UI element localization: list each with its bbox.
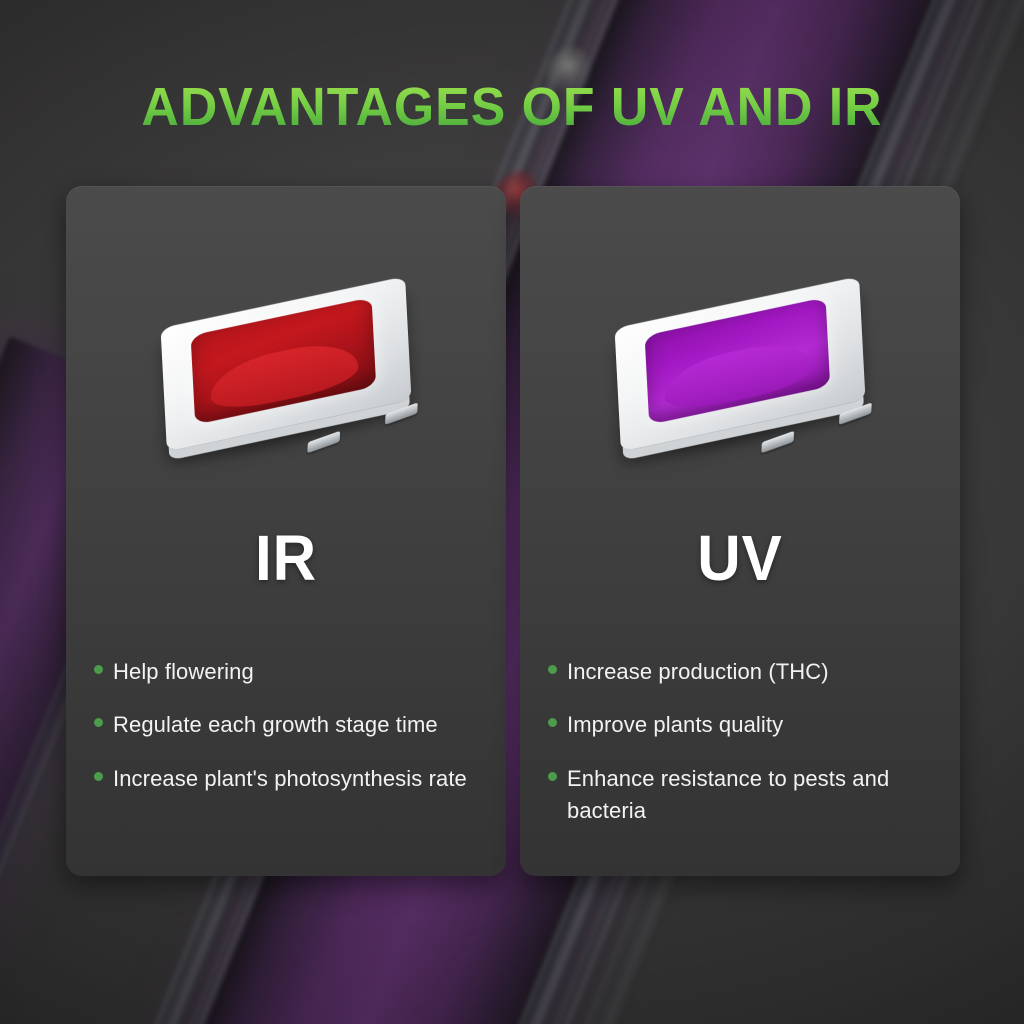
page-title: ADVANTAGES OF UV AND IR bbox=[20, 80, 1003, 134]
list-item-label: Help flowering bbox=[113, 656, 254, 688]
list-item: Enhance resistance to pests and bacteria bbox=[548, 763, 934, 828]
bullet-dot-icon bbox=[548, 772, 557, 781]
bullet-dot-icon bbox=[94, 772, 103, 781]
ir-led-illustration bbox=[66, 224, 506, 504]
list-item-label: Increase plant's photosynthesis rate bbox=[113, 763, 467, 795]
list-item: Increase production (THC) bbox=[548, 656, 934, 688]
card-ir-label: IR bbox=[79, 526, 493, 590]
list-item: Help flowering bbox=[94, 656, 480, 688]
list-item-label: Regulate each growth stage time bbox=[113, 709, 438, 741]
bullet-dot-icon bbox=[548, 665, 557, 674]
card-ir: IR Help flowering Regulate each growth s… bbox=[66, 186, 506, 876]
list-item-label: Increase production (THC) bbox=[567, 656, 829, 688]
bullet-dot-icon bbox=[548, 718, 557, 727]
list-item: Improve plants quality bbox=[548, 709, 934, 741]
infographic-canvas: ADVANTAGES OF UV AND IR IR Help flowerin… bbox=[0, 0, 1024, 1024]
uv-benefit-list: Increase production (THC) Improve plants… bbox=[548, 656, 934, 827]
card-uv-label: UV bbox=[533, 526, 947, 590]
list-item-label: Improve plants quality bbox=[567, 709, 783, 741]
card-uv: UV Increase production (THC) Improve pla… bbox=[520, 186, 960, 876]
bullet-dot-icon bbox=[94, 718, 103, 727]
list-item: Increase plant's photosynthesis rate bbox=[94, 763, 480, 795]
bullet-dot-icon bbox=[94, 665, 103, 674]
list-item-label: Enhance resistance to pests and bacteria bbox=[567, 763, 927, 828]
list-item: Regulate each growth stage time bbox=[94, 709, 480, 741]
ir-benefit-list: Help flowering Regulate each growth stag… bbox=[94, 656, 480, 795]
uv-led-illustration bbox=[520, 224, 960, 504]
